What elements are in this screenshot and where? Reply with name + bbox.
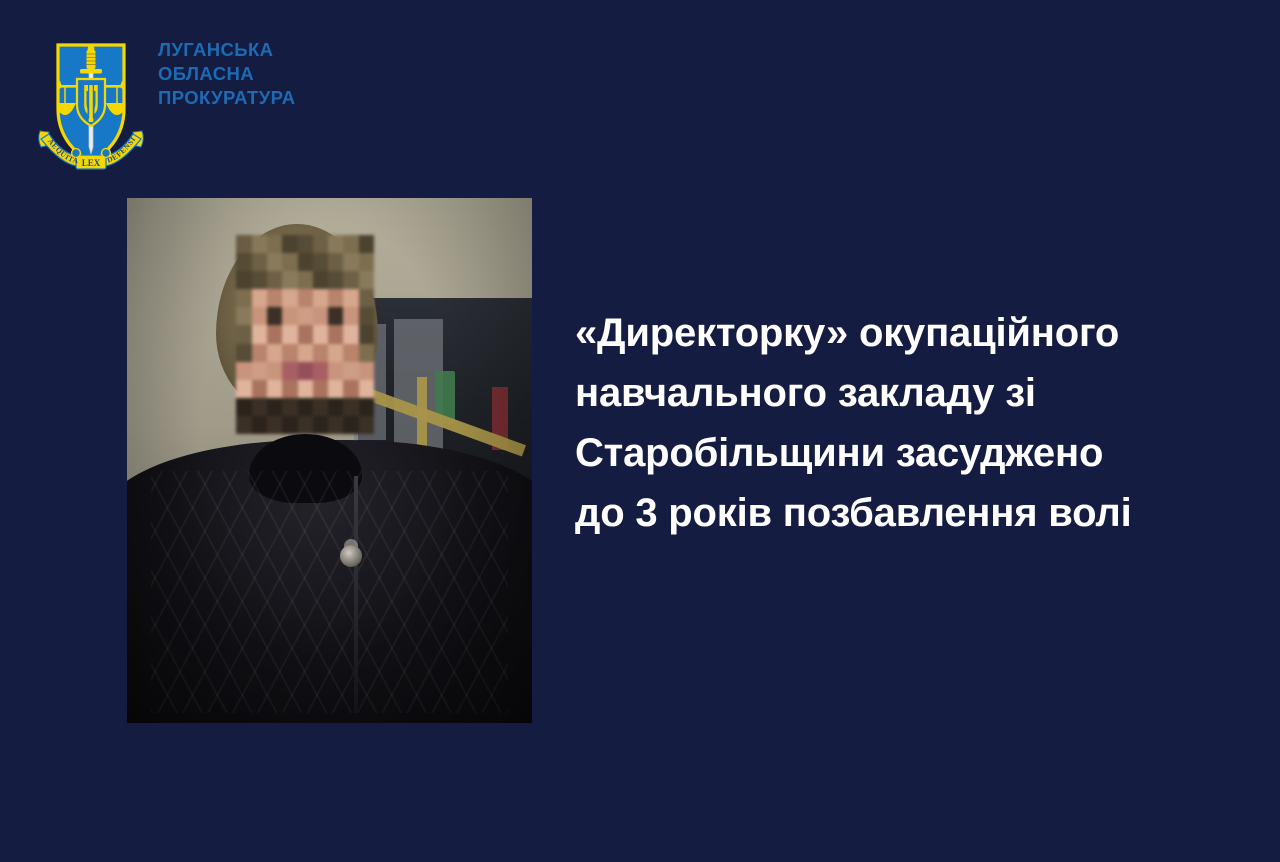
brand-title: ЛУГАНСЬКА ОБЛАСНА ПРОКУРАТУРА bbox=[158, 38, 295, 110]
headline-line-3: Старобільщини засуджено bbox=[575, 423, 1235, 483]
brand-title-line-1: ЛУГАНСЬКА bbox=[158, 38, 295, 62]
press-release-graphic: AEQUITAS DEFENSIO LEX ЛУГАНСЬКА ОБЛАСНА … bbox=[0, 0, 1280, 862]
brand-lockup: AEQUITAS DEFENSIO LEX ЛУГАНСЬКА ОБЛАСНА … bbox=[20, 30, 440, 180]
subject-photo bbox=[127, 198, 532, 723]
photo-content bbox=[127, 198, 532, 723]
motto-center-text: LEX bbox=[82, 158, 101, 168]
photo-vignette bbox=[127, 198, 532, 723]
headline-line-4: до 3 років позбавлення волі bbox=[575, 483, 1235, 543]
headline-line-2: навчального закладу зі bbox=[575, 363, 1235, 423]
brand-title-line-2: ОБЛАСНА bbox=[158, 62, 295, 86]
headline: «Директорку» окупаційного навчального за… bbox=[575, 303, 1235, 543]
brand-title-line-3: ПРОКУРАТУРА bbox=[158, 86, 295, 110]
headline-line-1: «Директорку» окупаційного bbox=[575, 303, 1235, 363]
prosecutors-office-emblem-icon: AEQUITAS DEFENSIO LEX bbox=[32, 35, 150, 180]
